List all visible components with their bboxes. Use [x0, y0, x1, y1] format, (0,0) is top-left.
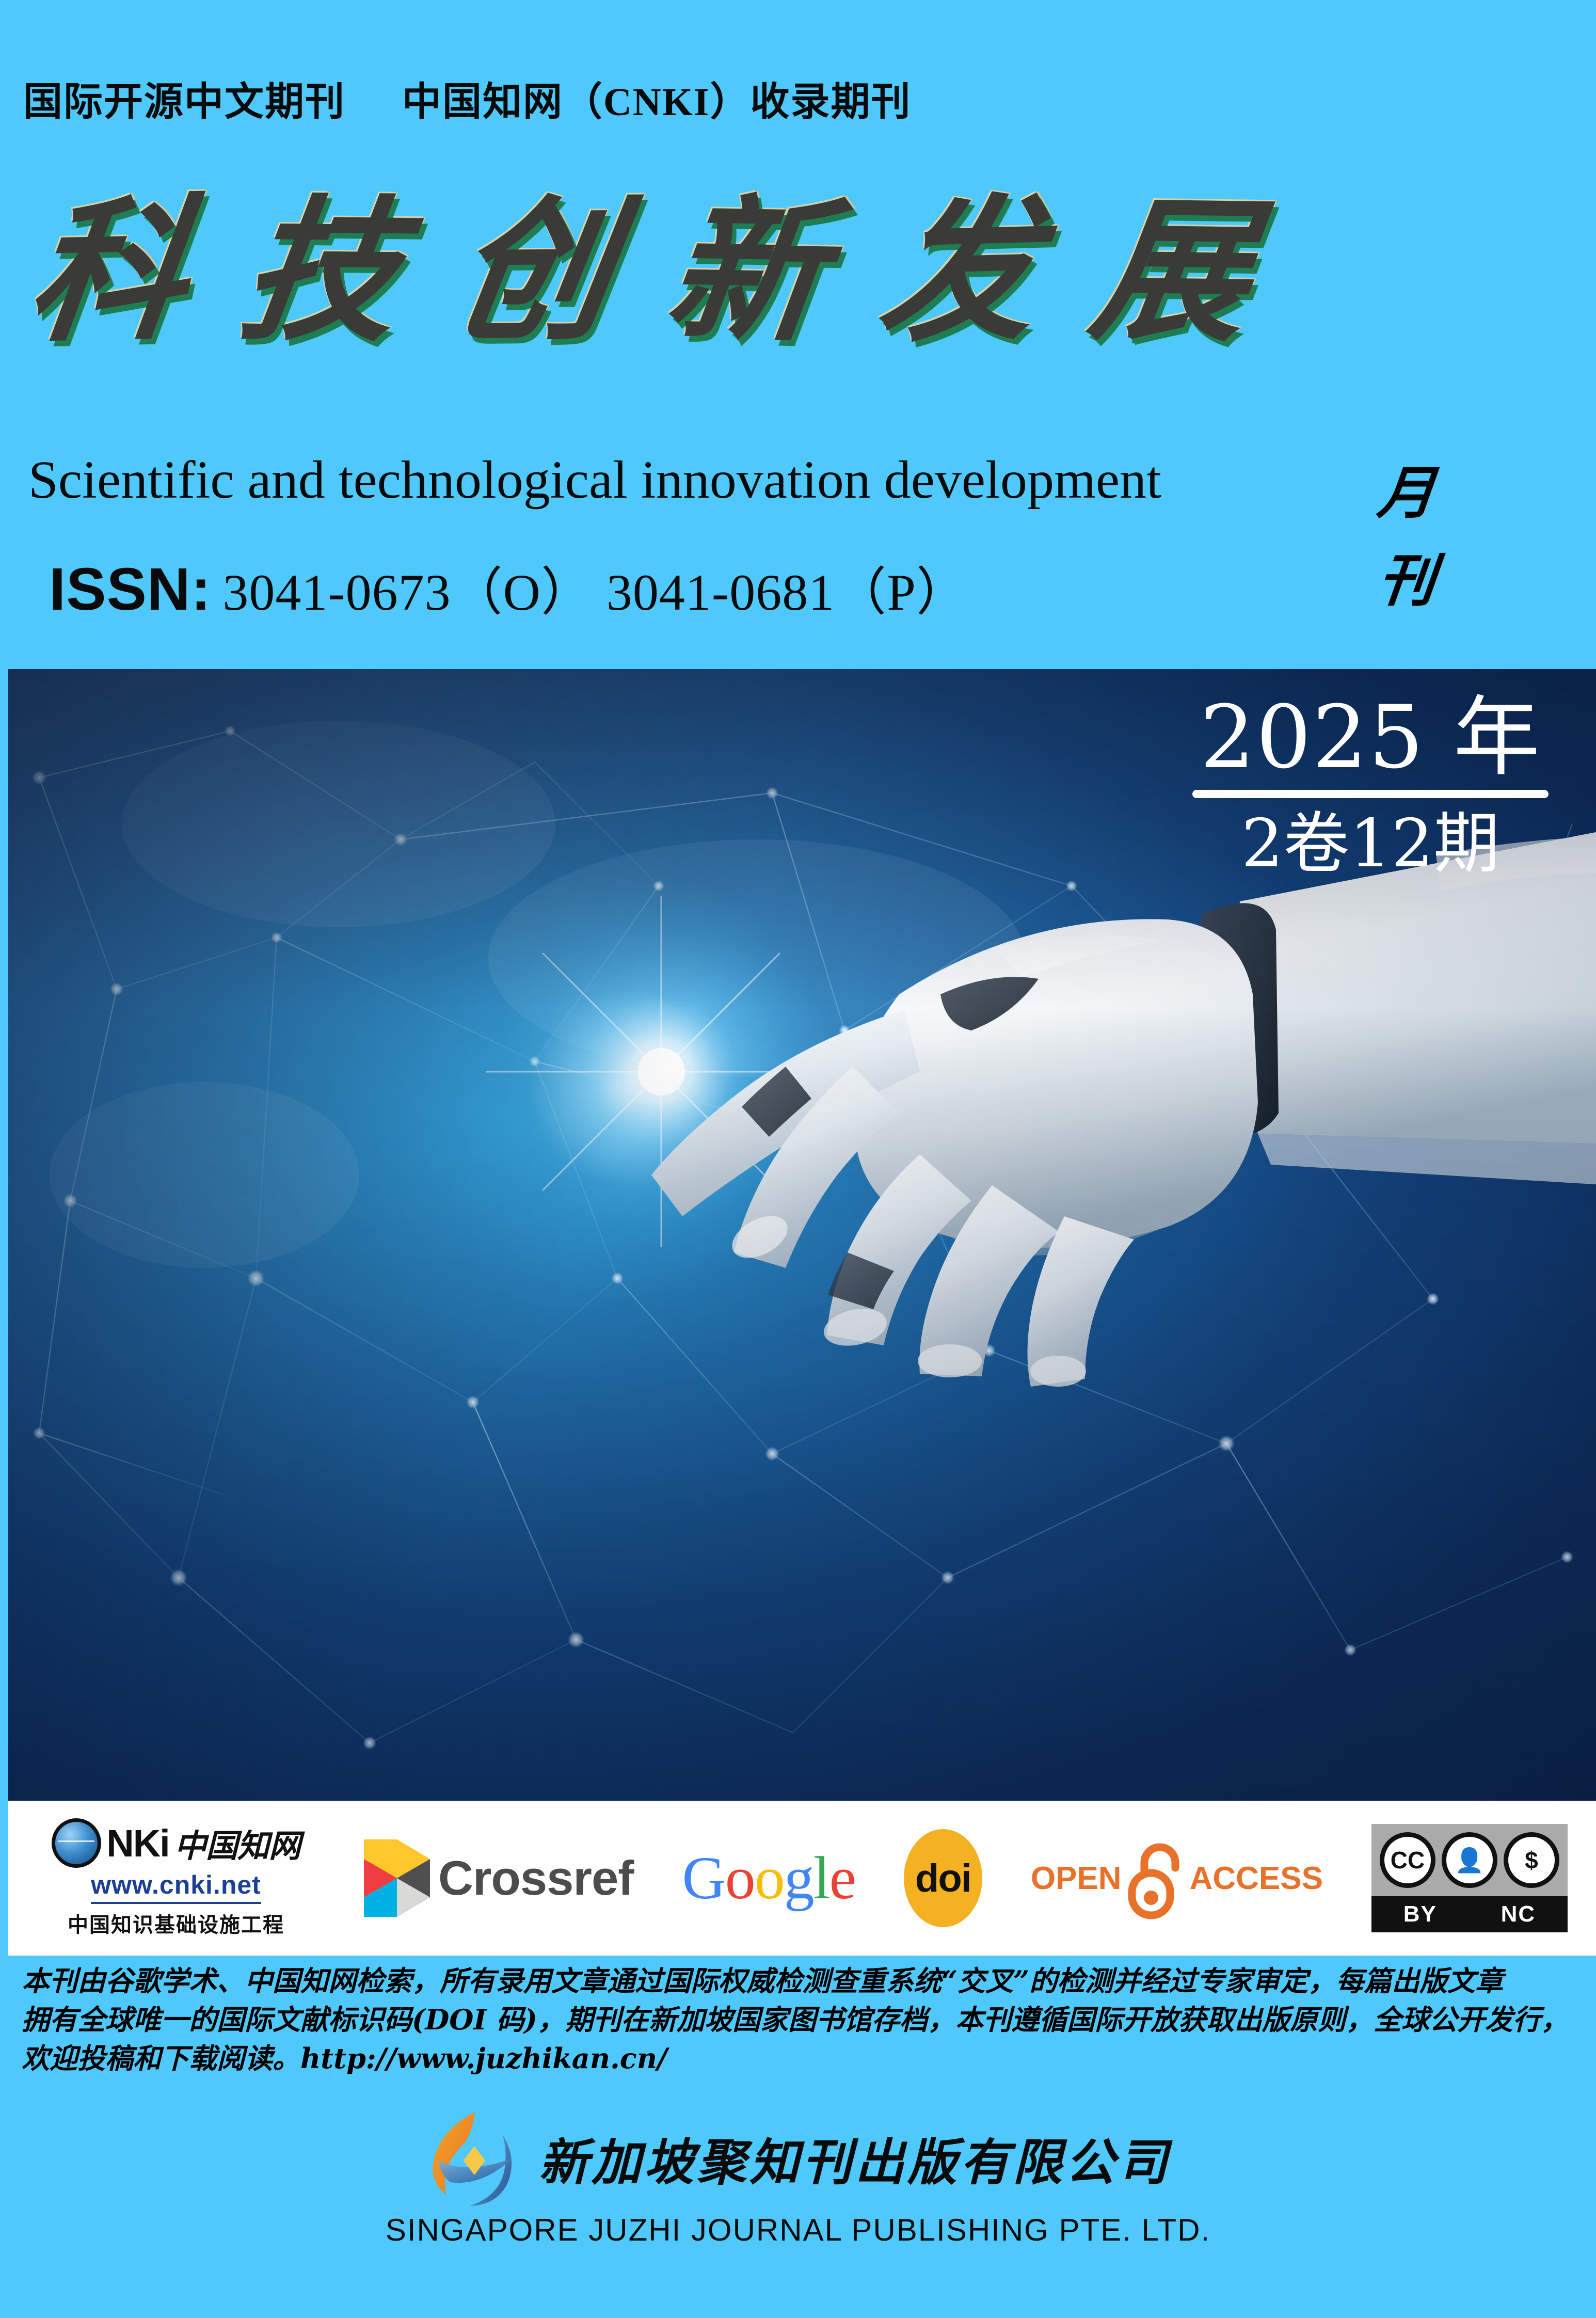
- frequency-char-1: 月: [1375, 465, 1438, 521]
- footer-note-line-3[interactable]: 欢迎投稿和下载阅读。http://www.juzhikan.cn/: [22, 2039, 1575, 2078]
- publisher-block: 新加坡聚知刊出版有限公司 SINGAPORE JUZHI JOURNAL PUB…: [0, 2109, 1596, 2248]
- title-char-6: 展: [1084, 193, 1259, 350]
- google-letter-o2: o: [755, 1844, 784, 1912]
- creative-commons-badge[interactable]: CC 👤 $ BY NC: [1371, 1824, 1568, 1932]
- cnki-subtitle: 中国知识基础设施工程: [68, 1908, 284, 1938]
- cnki-globe-icon: [52, 1818, 101, 1868]
- crossref-chevron-icon: [364, 1839, 430, 1917]
- juzhi-swoosh-logo: [425, 2109, 523, 2207]
- doi-logo[interactable]: doi: [904, 1829, 982, 1927]
- issue-divider: [1192, 790, 1549, 798]
- cc-icon: CC: [1380, 1832, 1435, 1888]
- doi-label: doi: [915, 1856, 971, 1901]
- title-char-3: 创: [444, 193, 623, 350]
- google-letter-g2: g: [784, 1844, 813, 1912]
- frequency-char-2: 刊: [1375, 552, 1438, 609]
- issn-value: 3041-0673（O） 3041-0681（P）: [222, 550, 968, 625]
- title-char-4: 新: [660, 192, 833, 350]
- google-letter-e: e: [829, 1844, 855, 1912]
- issn-label: ISSN:: [49, 554, 211, 624]
- journal-cover: 国际开源中文期刊中国知网（CNKI）收录期刊 科 技 创 新 发 展 Scien…: [0, 0, 1596, 2318]
- cnki-url: www.cnki.net: [91, 1870, 261, 1904]
- cnki-logo[interactable]: NKi 中国知网 www.cnki.net 中国知识基础设施工程: [37, 1818, 315, 1938]
- crossref-label: Crossref: [438, 1850, 634, 1906]
- title-char-5: 发: [872, 192, 1045, 351]
- footer-note: 本刊由谷歌学术、中国知网检索，所有录用文章通过国际权威检测查重系统“交叉”的检测…: [22, 1962, 1575, 2078]
- publisher-name-cn: 新加坡聚知刊出版有限公司: [539, 2122, 1171, 2194]
- title-char-2: 技: [233, 193, 409, 349]
- indexing-logo-band: NKi 中国知网 www.cnki.net 中国知识基础设施工程 Crossre…: [8, 1801, 1596, 1956]
- google-logo[interactable]: Google: [682, 1843, 855, 1913]
- crossref-logo[interactable]: Crossref: [364, 1839, 634, 1917]
- crossed-dollar-icon: $: [1504, 1832, 1559, 1888]
- publisher-name-en: SINGAPORE JUZHI JOURNAL PUBLISHING PTE. …: [386, 2212, 1210, 2248]
- open-access-right-label: ACCESS: [1190, 1860, 1323, 1897]
- issue-info: 2025 年 2卷12期: [1182, 692, 1559, 879]
- cc-nc-label: NC: [1501, 1901, 1536, 1927]
- publication-frequency: 月 刊: [1355, 465, 1458, 609]
- footer-note-line-1: 本刊由谷歌学术、中国知网检索，所有录用文章通过国际权威检测查重系统“交叉”的检测…: [22, 1962, 1575, 2001]
- open-access-left-label: OPEN: [1031, 1860, 1122, 1897]
- issue-volume-number: 2卷12期: [1182, 809, 1559, 879]
- issue-year: 2025 年: [1182, 692, 1559, 783]
- open-access-logo[interactable]: OPEN ACCESS: [1031, 1837, 1323, 1919]
- journal-title-en: Scientific and technological innovation …: [28, 449, 1161, 511]
- cnki-wordmark: NKi: [106, 1821, 169, 1865]
- footer-note-line-2: 拥有全球唯一的国际文献标识码(DOI 码)，期刊在新加坡国家图书馆存档，本刊遵循…: [22, 2001, 1575, 2039]
- issn-block: ISSN: 3041-0673（O） 3041-0681（P）: [49, 550, 968, 625]
- person-icon: 👤: [1442, 1832, 1497, 1888]
- header-badges: 国际开源中文期刊中国知网（CNKI）收录期刊: [23, 70, 911, 126]
- journal-title-cn: 科 技 创 新 发 展: [31, 186, 1249, 356]
- header-badge-cnki-indexed: 中国知网（CNKI）收录期刊: [402, 81, 911, 124]
- open-lock-icon: [1125, 1837, 1187, 1919]
- google-letter-o1: o: [725, 1844, 755, 1912]
- header-badge-open-access-cn: 国际开源中文期刊: [23, 81, 345, 124]
- google-letter-l: l: [813, 1844, 829, 1912]
- title-char-1: 科: [22, 192, 196, 350]
- cc-by-label: BY: [1403, 1901, 1437, 1927]
- cnki-cn-name: 中国知网: [174, 1820, 300, 1866]
- google-letter-g1: G: [682, 1844, 725, 1912]
